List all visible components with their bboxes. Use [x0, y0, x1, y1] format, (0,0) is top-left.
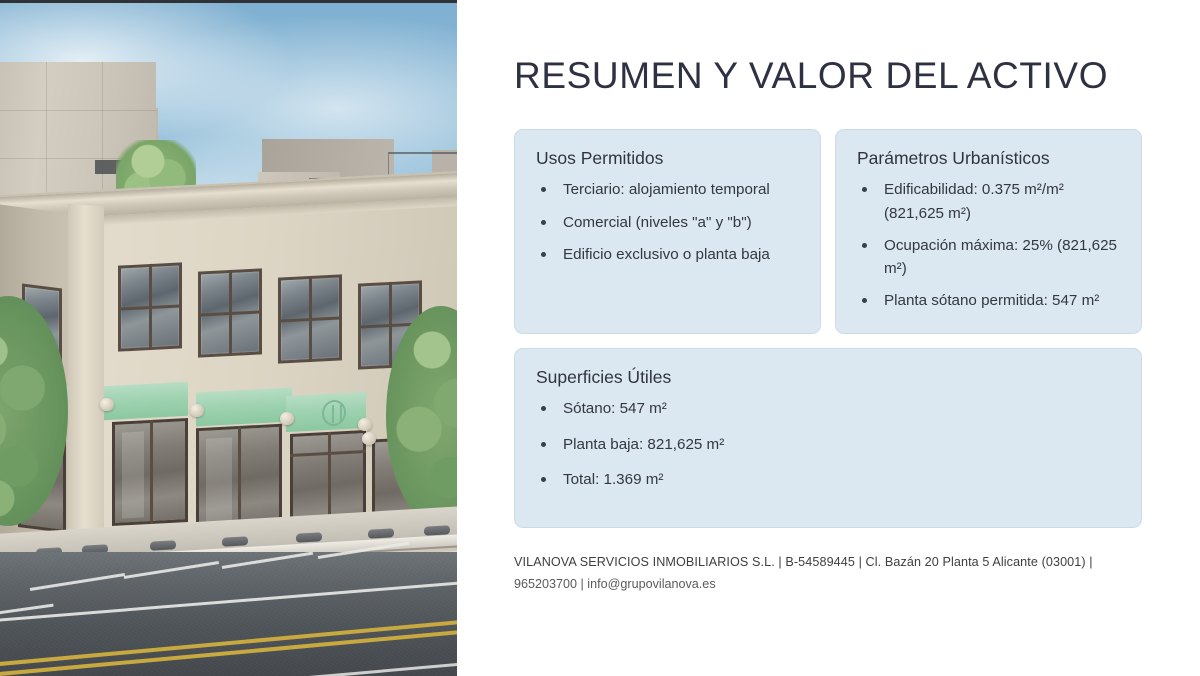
footer-company-line: VILANOVA SERVICIOS INMOBILIARIOS S.L. | … — [514, 552, 1146, 574]
wall-sconce-3 — [280, 412, 294, 425]
list-item: Planta baja: 821,625 m² — [536, 433, 1121, 456]
card-parametros-urbanisticos: Parámetros Urbanísticos Edificabilidad: … — [835, 129, 1142, 334]
list-item: Sótano: 547 m² — [536, 397, 1121, 420]
green-signage-band-1 — [104, 382, 188, 420]
footer-legal-info: VILANOVA SERVICIOS INMOBILIARIOS S.L. | … — [514, 552, 1146, 595]
card-list-parametros-urbanisticos: Edificabilidad: 0.375 m²/m² (821,625 m²)… — [857, 178, 1121, 312]
wall-sconce-1 — [100, 398, 114, 411]
card-usos-permitidos: Usos Permitidos Terciario: alojamiento t… — [514, 129, 821, 334]
content-panel: RESUMEN Y VALOR DEL ACTIVO Usos Permitid… — [457, 0, 1200, 676]
green-signage-band-2 — [196, 387, 292, 426]
building-render-image — [0, 0, 457, 676]
card-title-parametros-urbanisticos: Parámetros Urbanísticos — [857, 147, 1121, 170]
card-title-superficies-utiles: Superficies Útiles — [536, 366, 1121, 389]
card-superficies-utiles: Superficies Útiles Sótano: 547 m² Planta… — [514, 348, 1142, 529]
card-title-usos-permitidos: Usos Permitidos — [536, 147, 800, 170]
wall-sconce-2 — [190, 404, 204, 417]
card-list-usos-permitidos: Terciario: alojamiento temporal Comercia… — [536, 178, 800, 266]
list-item: Planta sótano permitida: 547 m² — [857, 289, 1121, 312]
wall-sconce-4 — [358, 418, 372, 431]
wall-sconce-5 — [362, 432, 376, 445]
slide-root: RESUMEN Y VALOR DEL ACTIVO Usos Permitid… — [0, 0, 1200, 676]
list-item: Comercial (niveles "a" y "b") — [536, 211, 800, 234]
list-item: Edificabilidad: 0.375 m²/m² (821,625 m²) — [857, 178, 1121, 225]
card-list-superficies-utiles: Sótano: 547 m² Planta baja: 821,625 m² T… — [536, 397, 1121, 491]
list-item: Ocupación máxima: 25% (821,625 m²) — [857, 234, 1121, 281]
page-title: RESUMEN Y VALOR DEL ACTIVO — [514, 55, 1146, 98]
top-rule-divider — [0, 0, 457, 3]
footer-contact-line: 965203700 | info@grupovilanova.es — [514, 574, 1146, 596]
list-item: Terciario: alojamiento temporal — [536, 178, 800, 201]
list-item: Edificio exclusivo o planta baja — [536, 243, 800, 266]
cards-top-row: Usos Permitidos Terciario: alojamiento t… — [514, 129, 1146, 334]
list-item: Total: 1.369 m² — [536, 468, 1121, 491]
